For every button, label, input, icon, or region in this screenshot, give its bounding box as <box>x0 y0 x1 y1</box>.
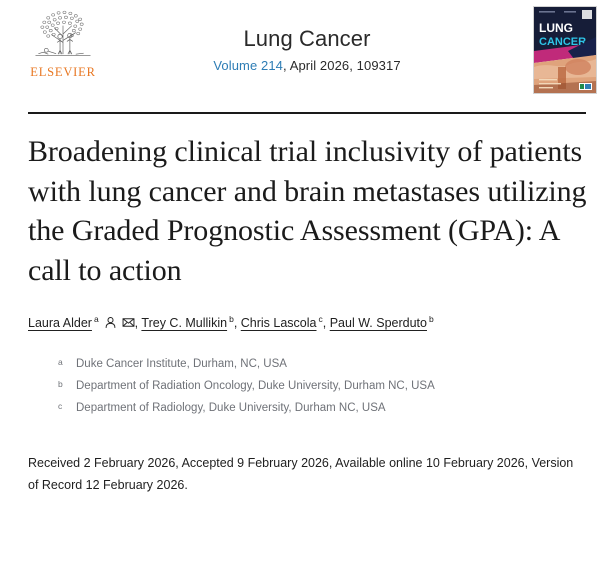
header-divider <box>28 112 586 114</box>
journal-info: Lung Cancer Volume 214, April 2026, 1093… <box>0 26 614 73</box>
author-link[interactable]: Laura Alder <box>28 316 92 330</box>
author-list: Laura Aldera, Trey C. Mullikinb, Chris L… <box>28 314 588 335</box>
author-link[interactable]: Chris Lascola <box>241 316 317 330</box>
author-entry: Chris Lascolac, <box>241 316 330 330</box>
svg-text:LUNG: LUNG <box>539 21 573 35</box>
affiliation-row: a Duke Cancer Institute, Durham, NC, USA <box>58 353 588 375</box>
affiliation-mark: a <box>58 353 76 370</box>
journal-header: ELSEVIER Lung Cancer Volume 214, April 2… <box>0 0 614 100</box>
affiliation-row: b Department of Radiation Oncology, Duke… <box>58 375 588 397</box>
publication-dates: Received 2 February 2026, Accepted 9 Feb… <box>28 453 584 497</box>
article-header: Broadening clinical trial inclusivity of… <box>28 132 588 497</box>
affiliation-list: a Duke Cancer Institute, Durham, NC, USA… <box>28 353 588 419</box>
journal-issue-meta: Volume 214, April 2026, 109317 <box>0 58 614 73</box>
affiliation-mark: b <box>58 375 76 392</box>
affiliation-text: Duke Cancer Institute, Durham, NC, USA <box>76 353 588 375</box>
author-affiliation-mark: a <box>94 314 99 324</box>
journal-title[interactable]: Lung Cancer <box>0 26 614 51</box>
author-entry: Trey C. Mullikinb, <box>141 316 240 330</box>
author-entry: Paul W. Sperdutob <box>330 316 434 330</box>
person-icon[interactable] <box>104 316 117 335</box>
affiliation-text: Department of Radiation Oncology, Duke U… <box>76 375 588 397</box>
affiliation-text: Department of Radiology, Duke University… <box>76 397 588 419</box>
author-affiliation-mark: b <box>429 314 434 324</box>
issue-meta-text: , April 2026, 109317 <box>283 58 401 73</box>
affiliation-mark: c <box>58 397 76 414</box>
author-separator: , <box>234 316 241 330</box>
envelope-icon[interactable] <box>122 316 135 335</box>
article-title: Broadening clinical trial inclusivity of… <box>28 132 588 290</box>
author-separator: , <box>323 316 330 330</box>
cover-art: LUNG CANCER <box>534 7 596 93</box>
volume-link[interactable]: Volume 214 <box>213 58 283 73</box>
affiliation-row: c Department of Radiology, Duke Universi… <box>58 397 588 419</box>
author-link[interactable]: Trey C. Mullikin <box>141 316 227 330</box>
author-entry: Laura Aldera, <box>28 316 141 330</box>
author-link[interactable]: Paul W. Sperduto <box>330 316 427 330</box>
journal-cover-thumbnail[interactable]: LUNG CANCER <box>533 6 597 94</box>
